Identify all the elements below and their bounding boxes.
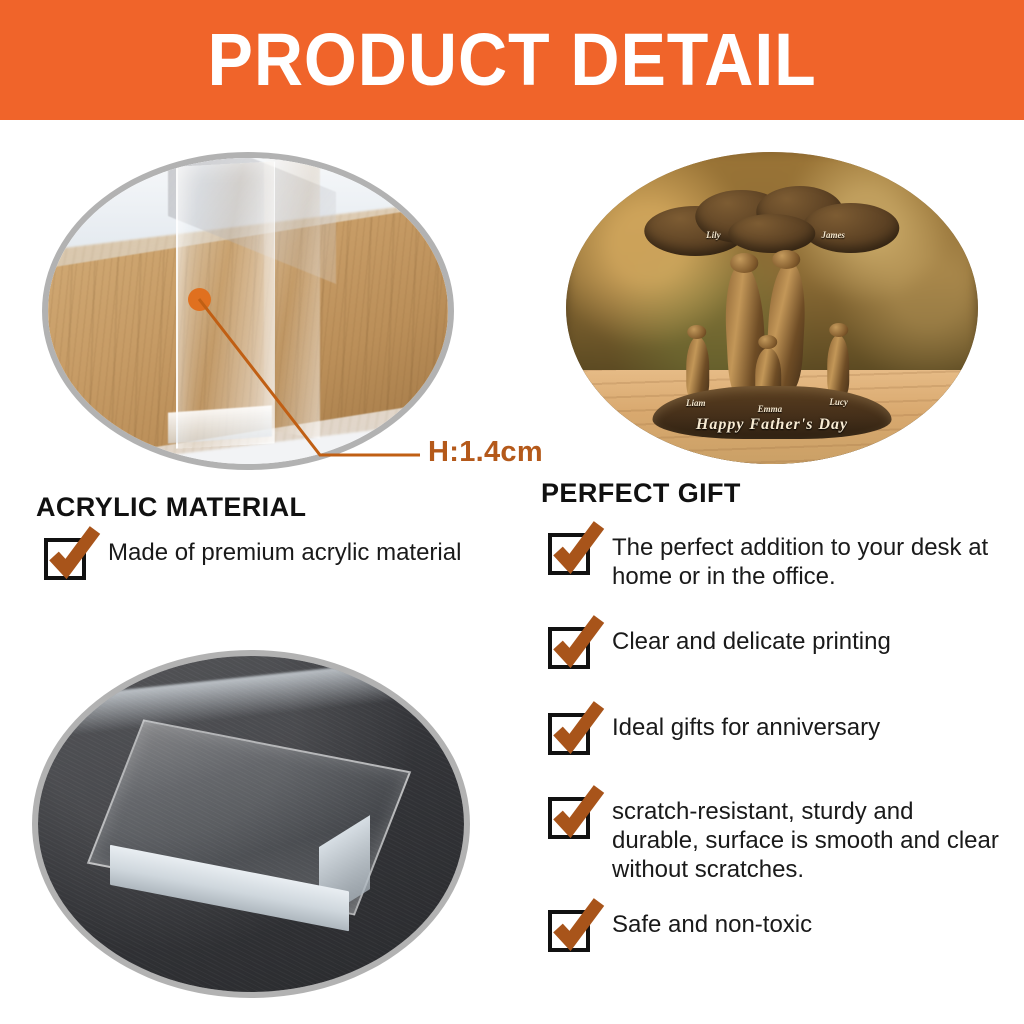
feature-text: Made of premium acrylic material (108, 538, 461, 567)
feature-row: Safe and non-toxic (548, 910, 1008, 952)
feature-row: The perfect addition to your desk at hom… (548, 533, 1008, 591)
checkmark-icon (549, 523, 605, 579)
dimension-label: H:1.4cm (428, 436, 543, 469)
product-photo-sculpture: Liam Emma Lucy Happy Father's Day Lily J… (566, 152, 978, 464)
feature-text: Clear and delicate printing (612, 627, 891, 656)
checkbox-checked-icon (548, 533, 590, 575)
feature-text: scratch-resistant, sturdy and durable, s… (612, 797, 1004, 884)
product-photo-acrylic-edge (42, 152, 454, 470)
checkmark-icon (549, 703, 605, 759)
page-title: PRODUCT DETAIL (207, 23, 816, 97)
wood-floor-scene (48, 158, 448, 464)
feature-row: Clear and delicate printing (548, 627, 1008, 669)
checkmark-icon (549, 787, 605, 843)
checkbox-checked-icon (548, 797, 590, 839)
feature-text: Ideal gifts for anniversary (612, 713, 880, 742)
dimension-dot-icon (188, 288, 211, 311)
engraved-name: Liam (686, 398, 706, 408)
checkmark-icon (549, 900, 605, 956)
section-title-acrylic-material: ACRYLIC MATERIAL (36, 492, 306, 523)
feature-row: scratch-resistant, sturdy and durable, s… (548, 797, 1018, 884)
engraved-name: Emma (758, 404, 783, 414)
checkmark-icon (45, 528, 101, 584)
engraved-name: Lily (706, 230, 721, 240)
slate-edge-highlight (72, 657, 438, 736)
product-photo-acrylic-block (32, 650, 470, 998)
checkmark-icon (549, 617, 605, 673)
checkbox-checked-icon (548, 713, 590, 755)
engraved-name: Lucy (829, 397, 848, 407)
feature-row: Made of premium acrylic material (44, 538, 514, 580)
checkbox-checked-icon (44, 538, 86, 580)
page-header-banner: PRODUCT DETAIL (0, 0, 1024, 120)
checkbox-checked-icon (548, 910, 590, 952)
checkbox-checked-icon (548, 627, 590, 669)
feature-text: The perfect addition to your desk at hom… (612, 533, 1008, 591)
slate-surface (38, 656, 464, 992)
feature-row: Ideal gifts for anniversary (548, 713, 1008, 755)
engraved-greeting: Happy Father's Day (696, 416, 848, 434)
sculpture-base: Liam Emma Lucy Happy Father's Day (653, 386, 892, 439)
feature-text: Safe and non-toxic (612, 910, 812, 939)
engraved-name: James (821, 230, 845, 240)
section-title-perfect-gift: PERFECT GIFT (541, 478, 741, 509)
